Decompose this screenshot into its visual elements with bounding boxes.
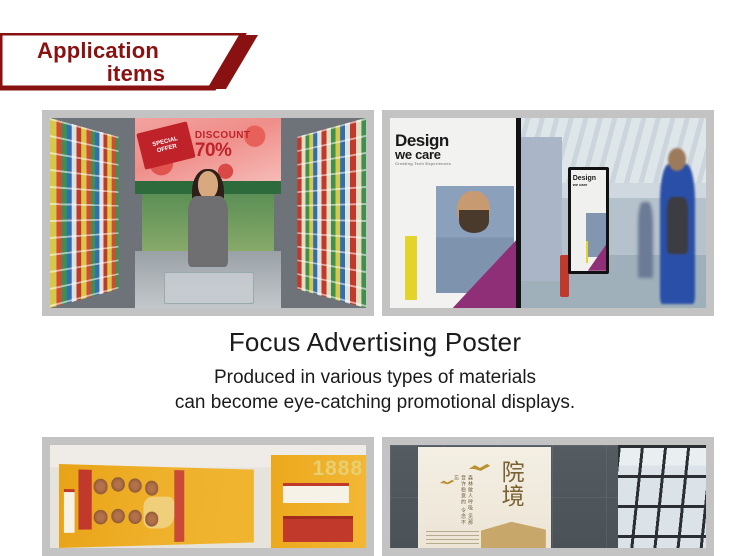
- discount-text-block: DISCOUNT 70%: [195, 122, 276, 170]
- panel-highlight-card: [283, 516, 353, 541]
- poster-title: Design we care Creating Tech Experiences: [395, 133, 511, 165]
- shopper-body: [188, 196, 229, 267]
- lightbox-poster: Design we care Creating Tech Experiences: [390, 118, 521, 308]
- kiosk-screen: Design we care: [571, 170, 607, 270]
- banner-title-line2: items: [0, 62, 214, 85]
- panel-info-card: [283, 483, 349, 503]
- poster-chinese-title: 院 境: [502, 461, 525, 509]
- kiosk-title-line2: we care: [573, 183, 596, 187]
- circular-niche: [111, 476, 125, 491]
- photo-exhibition-wall-panels: 1888: [50, 445, 366, 548]
- special-offer-badge: SPECIAL OFFER: [136, 121, 196, 170]
- window-frame-grid: [618, 445, 706, 548]
- banner-title-line1: Application: [0, 39, 214, 62]
- circular-niche: [94, 509, 108, 524]
- kiosk-title: Design we care: [573, 176, 596, 186]
- gallery-row-bottom: 1888 院 境 森林敢人呼吸 见那音许稳意的 令念不忘: [42, 437, 714, 556]
- shelf-left-graphic: [50, 118, 118, 308]
- poster-title-line2: we care: [395, 149, 511, 161]
- photo-frame-chinese-style-wall-poster[interactable]: 院 境 森林敢人呼吸 见那音许稳意的 令念不忘: [382, 437, 714, 556]
- photo-frame-mall-digital-signage[interactable]: Design we care Design: [382, 110, 714, 316]
- shelf-right-graphic: [298, 118, 366, 308]
- discount-value: 70%: [195, 141, 276, 160]
- shopping-cart-graphic: [164, 272, 254, 304]
- poster-chinese-char-1: 院: [502, 461, 525, 485]
- shopper-head: [198, 171, 218, 198]
- photo-frame-exhibition-wall-panels[interactable]: 1888: [42, 437, 374, 556]
- mall-corridor-graphic: Design we care: [516, 118, 706, 308]
- panel-circular-niches: [90, 476, 175, 536]
- photo-chinese-style-wall-poster: 院 境 森林敢人呼吸 见那音许稳意的 令念不忘: [390, 445, 706, 548]
- panel-red-band-right: [175, 470, 184, 542]
- poster-vertical-text: 森林敢人呼吸 见那音许稳意的 令念不忘: [453, 475, 474, 527]
- walking-man-figure: [660, 164, 694, 305]
- circular-niche: [146, 481, 159, 495]
- caption-block: Focus Advertising Poster Produced in var…: [0, 326, 750, 416]
- pavilion-illustration: [477, 522, 546, 548]
- circular-niche: [111, 508, 125, 523]
- photo-supermarket-aisle-poster: SPECIAL OFFER DISCOUNT 70%: [50, 118, 366, 308]
- photo-frame-supermarket-aisle-poster[interactable]: SPECIAL OFFER DISCOUNT 70%: [42, 110, 374, 316]
- crane-icon: [469, 463, 490, 472]
- caption-subtitle-line2: can become eye-catching promotional disp…: [0, 390, 750, 416]
- panel-info-card: [64, 489, 75, 532]
- poster-subject-beard: [459, 210, 489, 233]
- caption-subtitle: Produced in various types of materials c…: [0, 365, 750, 416]
- corridor-wall-graphic: [520, 137, 562, 281]
- digital-signage-kiosk: Design we care: [568, 167, 610, 273]
- backpack-graphic: [667, 197, 687, 253]
- kiosk-yellow-bar: [586, 241, 588, 263]
- caption-subtitle-line1: Produced in various types of materials: [0, 365, 750, 391]
- exhibition-panel-right: 1888: [271, 455, 366, 548]
- poster-yellow-bar: [405, 236, 416, 301]
- caption-title: Focus Advertising Poster: [0, 326, 750, 359]
- chinese-poster: 院 境 森林敢人呼吸 见那音许稳意的 令念不忘: [418, 447, 551, 548]
- mountain-line-art: [426, 531, 479, 545]
- gallery-row-top: SPECIAL OFFER DISCOUNT 70%: [42, 110, 714, 316]
- photo-mall-digital-signage: Design we care Design: [390, 118, 706, 308]
- circular-niche: [146, 511, 159, 525]
- poster-tagline: Creating Tech Experiences: [395, 162, 511, 166]
- window-wall-graphic: [618, 445, 706, 548]
- circular-niche: [94, 478, 108, 493]
- walking-man-head: [668, 148, 686, 170]
- exhibition-panel-main: [59, 464, 254, 548]
- circular-niche: [129, 478, 143, 493]
- circular-niche: [129, 509, 143, 524]
- banner-text: Application items: [0, 33, 214, 91]
- section-banner: Application items: [0, 33, 260, 91]
- poster-chinese-char-2: 境: [502, 485, 525, 509]
- exhibition-year-label: 1888: [312, 457, 363, 481]
- shopper-figure: [180, 171, 237, 285]
- background-shopper-figure: [638, 202, 653, 278]
